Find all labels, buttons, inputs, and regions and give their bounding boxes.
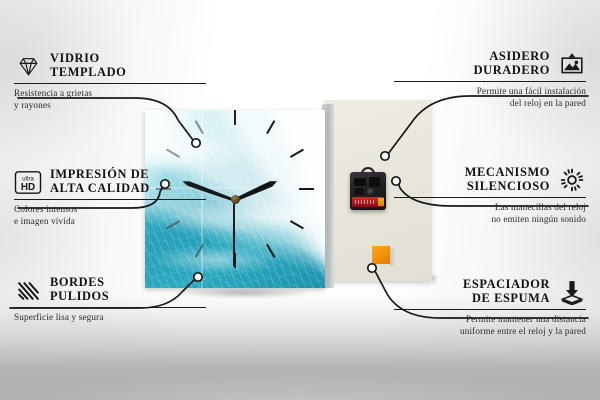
gear-icon [558, 166, 586, 194]
callout-dot-tempered-glass [192, 139, 200, 147]
feature-title: IMPRESIÓN DE ALTA CALIDAD [50, 168, 150, 195]
feature-description: Permite mantener una distancia uniforme … [394, 310, 586, 337]
feature-description: Permite una fácil instalación del reloj … [394, 82, 586, 109]
infographic-canvas: VIDRIO TEMPLADO Resistencia a grietas y … [0, 0, 600, 400]
callout-dot-spacer [368, 264, 376, 272]
feature-header: MECANISMO SILENCIOSO [394, 166, 586, 197]
feature-title: VIDRIO TEMPLADO [50, 52, 126, 79]
feature-title: MECANISMO SILENCIOSO [465, 166, 550, 193]
feature-title: BORDES PULIDOS [50, 276, 109, 303]
feature-hanger: ASIDERO DURADERO Permite una fácil insta… [394, 50, 586, 109]
svg-text:HD: HD [21, 181, 35, 192]
callout-dot-hanger [381, 152, 389, 160]
feature-header: ultra HD IMPRESIÓN DE ALTA CALIDAD [14, 168, 206, 199]
feature-title: ESPACIADOR DE ESPUMA [463, 278, 550, 305]
feature-header: VIDRIO TEMPLADO [14, 52, 206, 83]
feature-spacer: ESPACIADOR DE ESPUMA Permite mantener un… [394, 278, 586, 337]
feature-description: Superficie lisa y segura [14, 308, 206, 323]
framed-picture-hanging-icon [558, 50, 586, 78]
feature-description: Las manecillas del reloj no emiten ningú… [394, 198, 586, 225]
feature-tempered-glass: VIDRIO TEMPLADO Resistencia a grietas y … [14, 52, 206, 111]
diamond-icon [14, 52, 42, 80]
feature-header: ASIDERO DURADERO [394, 50, 586, 81]
feature-title: ASIDERO DURADERO [474, 50, 550, 77]
feature-header: ESPACIADOR DE ESPUMA [394, 278, 586, 309]
diagonal-lines-icon [14, 276, 42, 304]
ultra-hd-badge-icon: ultra HD [14, 168, 42, 196]
feature-description: Colores intensos e imagen vívida [14, 200, 206, 227]
arrow-down-onto-layer-icon [558, 278, 586, 306]
feature-header: BORDES PULIDOS [14, 276, 206, 307]
feature-hd-print: ultra HD IMPRESIÓN DE ALTA CALIDAD Color… [14, 168, 206, 227]
feature-polished-edge: BORDES PULIDOS Superficie lisa y segura [14, 276, 206, 324]
feature-description: Resistencia a grietas y rayones [14, 84, 206, 111]
feature-mechanism: MECANISMO SILENCIOSO Las manecillas del … [394, 166, 586, 225]
